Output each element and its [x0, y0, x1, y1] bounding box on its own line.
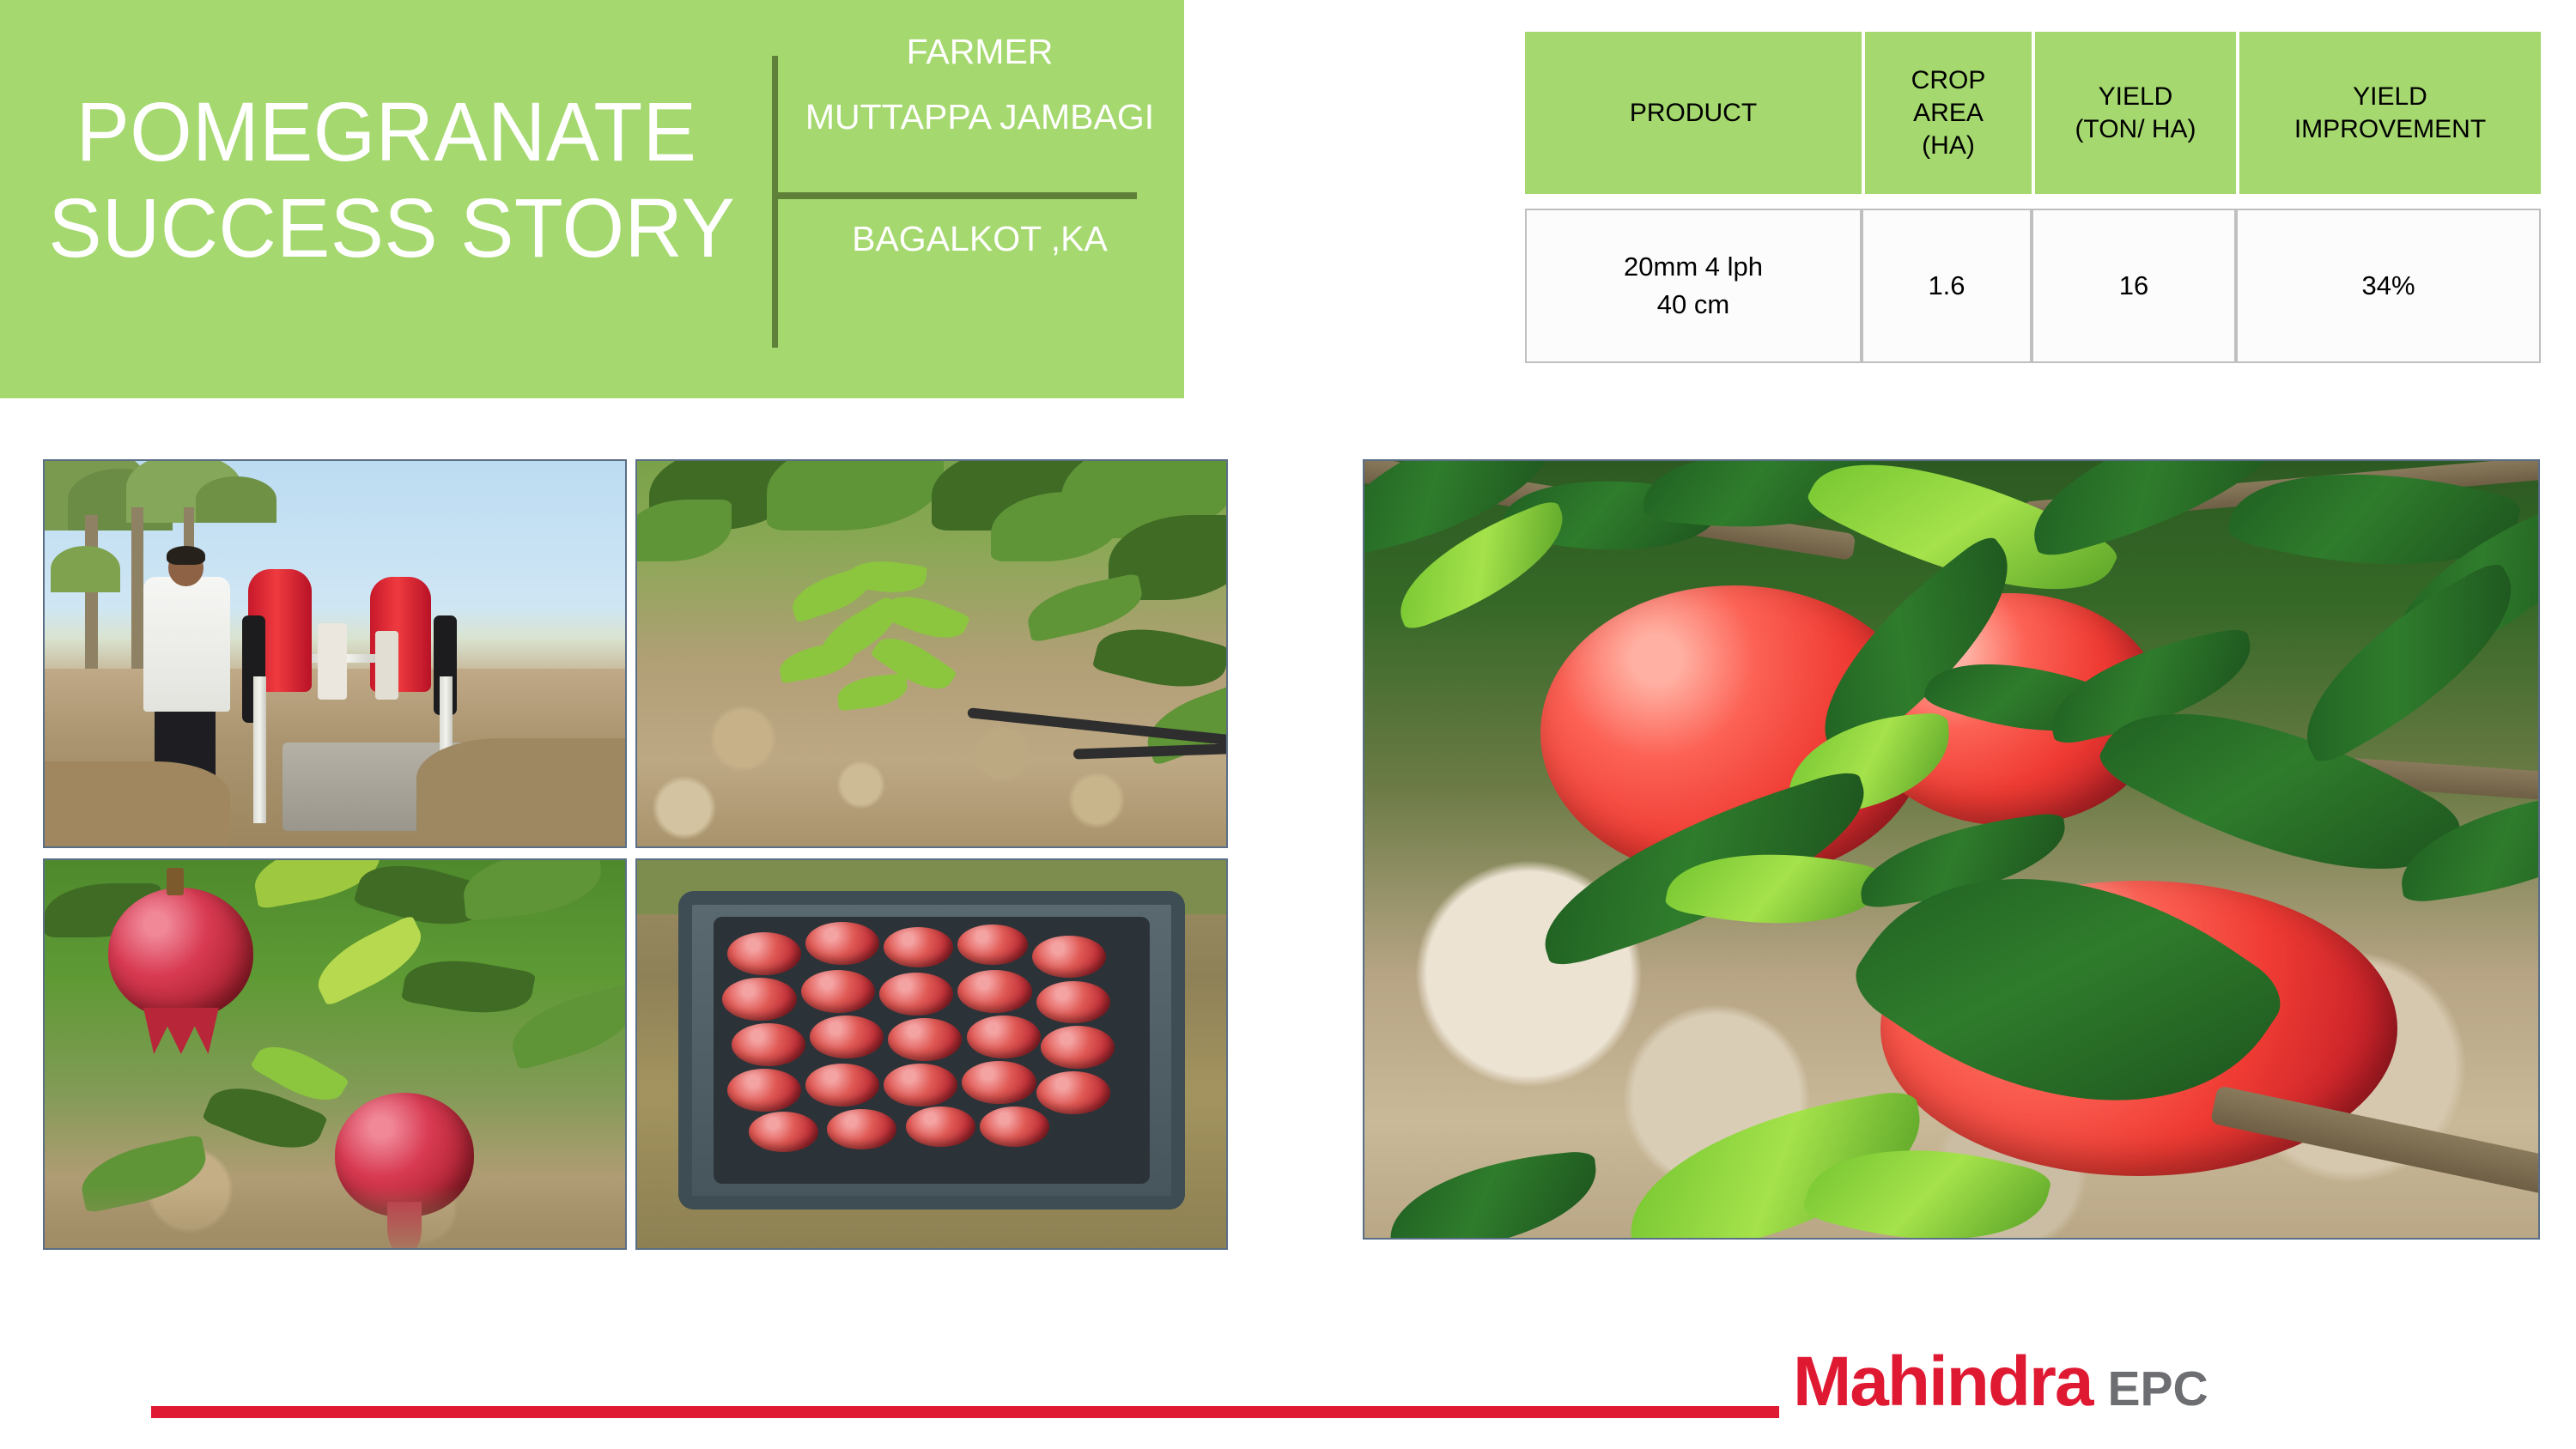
scene-harvest-crate [637, 860, 1226, 1248]
cell-crop-area: 1.6 [1862, 209, 2032, 363]
table-header-product-label: PRODUCT [1630, 99, 1757, 127]
vertical-divider [772, 56, 778, 348]
title-line-1: POMEGRANATE [48, 84, 724, 180]
table-header-yield-improvement: YIELD IMPROVEMENT [2236, 32, 2541, 194]
yield-improvement-line-2: IMPROVEMENT [2245, 113, 2536, 146]
crop-area-line-3: (HA) [1870, 130, 2026, 162]
photo-young-shoots [635, 459, 1228, 848]
title-line-2: SUCCESS STORY [48, 180, 724, 276]
yield-line-2: (TON/ HA) [2040, 113, 2231, 146]
farmer-role-label: FARMER [778, 19, 1182, 84]
photo-harvest-crate [635, 858, 1228, 1250]
yield-summary-table: PRODUCT CROP AREA (HA) YIELD (TON/ HA) Y… [1525, 32, 2541, 363]
scene-farmer-filters [45, 461, 625, 846]
table-row-gap [1525, 194, 2541, 209]
scene-closeup-pomegranates [1364, 461, 2538, 1238]
header-banner: POMEGRANATE SUCCESS STORY FARMER MUTTAPP… [0, 0, 1184, 398]
product-line-2: 40 cm [1532, 286, 1855, 324]
cell-product: 20mm 4 lph 40 cm [1525, 209, 1862, 363]
farmer-location-block: BAGALKOT ,KA [778, 206, 1182, 271]
crate-inner [714, 917, 1149, 1184]
slide-canvas: POMEGRANATE SUCCESS STORY FARMER MUTTAPP… [0, 0, 2576, 1449]
photo-grid [43, 459, 1228, 1250]
footer-rule [151, 1406, 1779, 1418]
table-header-product: PRODUCT [1525, 32, 1862, 194]
cell-yield: 16 [2032, 209, 2236, 363]
yield-line-1: YIELD [2040, 81, 2231, 113]
farmer-identity: FARMER MUTTAPPA JAMBAGI [778, 19, 1182, 149]
photo-farmer-with-filters [43, 459, 627, 848]
farmer-meta-block: FARMER MUTTAPPA JAMBAGI BAGALKOT ,KA [778, 0, 1182, 398]
brand-logo: Mahindra EPC [1793, 1346, 2208, 1418]
farmer-name: MUTTAPPA JAMBAGI [778, 84, 1182, 149]
product-line-1: 20mm 4 lph [1532, 248, 1855, 286]
table-header-yield: YIELD (TON/ HA) [2032, 32, 2236, 194]
crop-area-line-2: AREA [1870, 97, 2026, 130]
crop-area-line-1: CROP [1870, 64, 2026, 97]
scene-young-shoots [637, 461, 1226, 846]
photo-pomegranates-on-bush [43, 858, 627, 1250]
brand-division: EPC [2107, 1353, 2208, 1425]
table-header-crop-area: CROP AREA (HA) [1862, 32, 2032, 194]
farmer-location: BAGALKOT ,KA [778, 206, 1182, 271]
crate-body [678, 891, 1185, 1210]
brand-name: Mahindra [1793, 1346, 2092, 1418]
table-row: 20mm 4 lph 40 cm 1.6 16 34% [1525, 209, 2541, 363]
cell-yield-improvement: 34% [2236, 209, 2541, 363]
page-title: POMEGRANATE SUCCESS STORY [34, 84, 738, 276]
table-header-row: PRODUCT CROP AREA (HA) YIELD (TON/ HA) Y… [1525, 32, 2541, 194]
scene-pomegranates-bush [45, 860, 625, 1248]
photo-closeup-pomegranates [1363, 459, 2540, 1240]
yield-improvement-line-1: YIELD [2245, 81, 2536, 113]
